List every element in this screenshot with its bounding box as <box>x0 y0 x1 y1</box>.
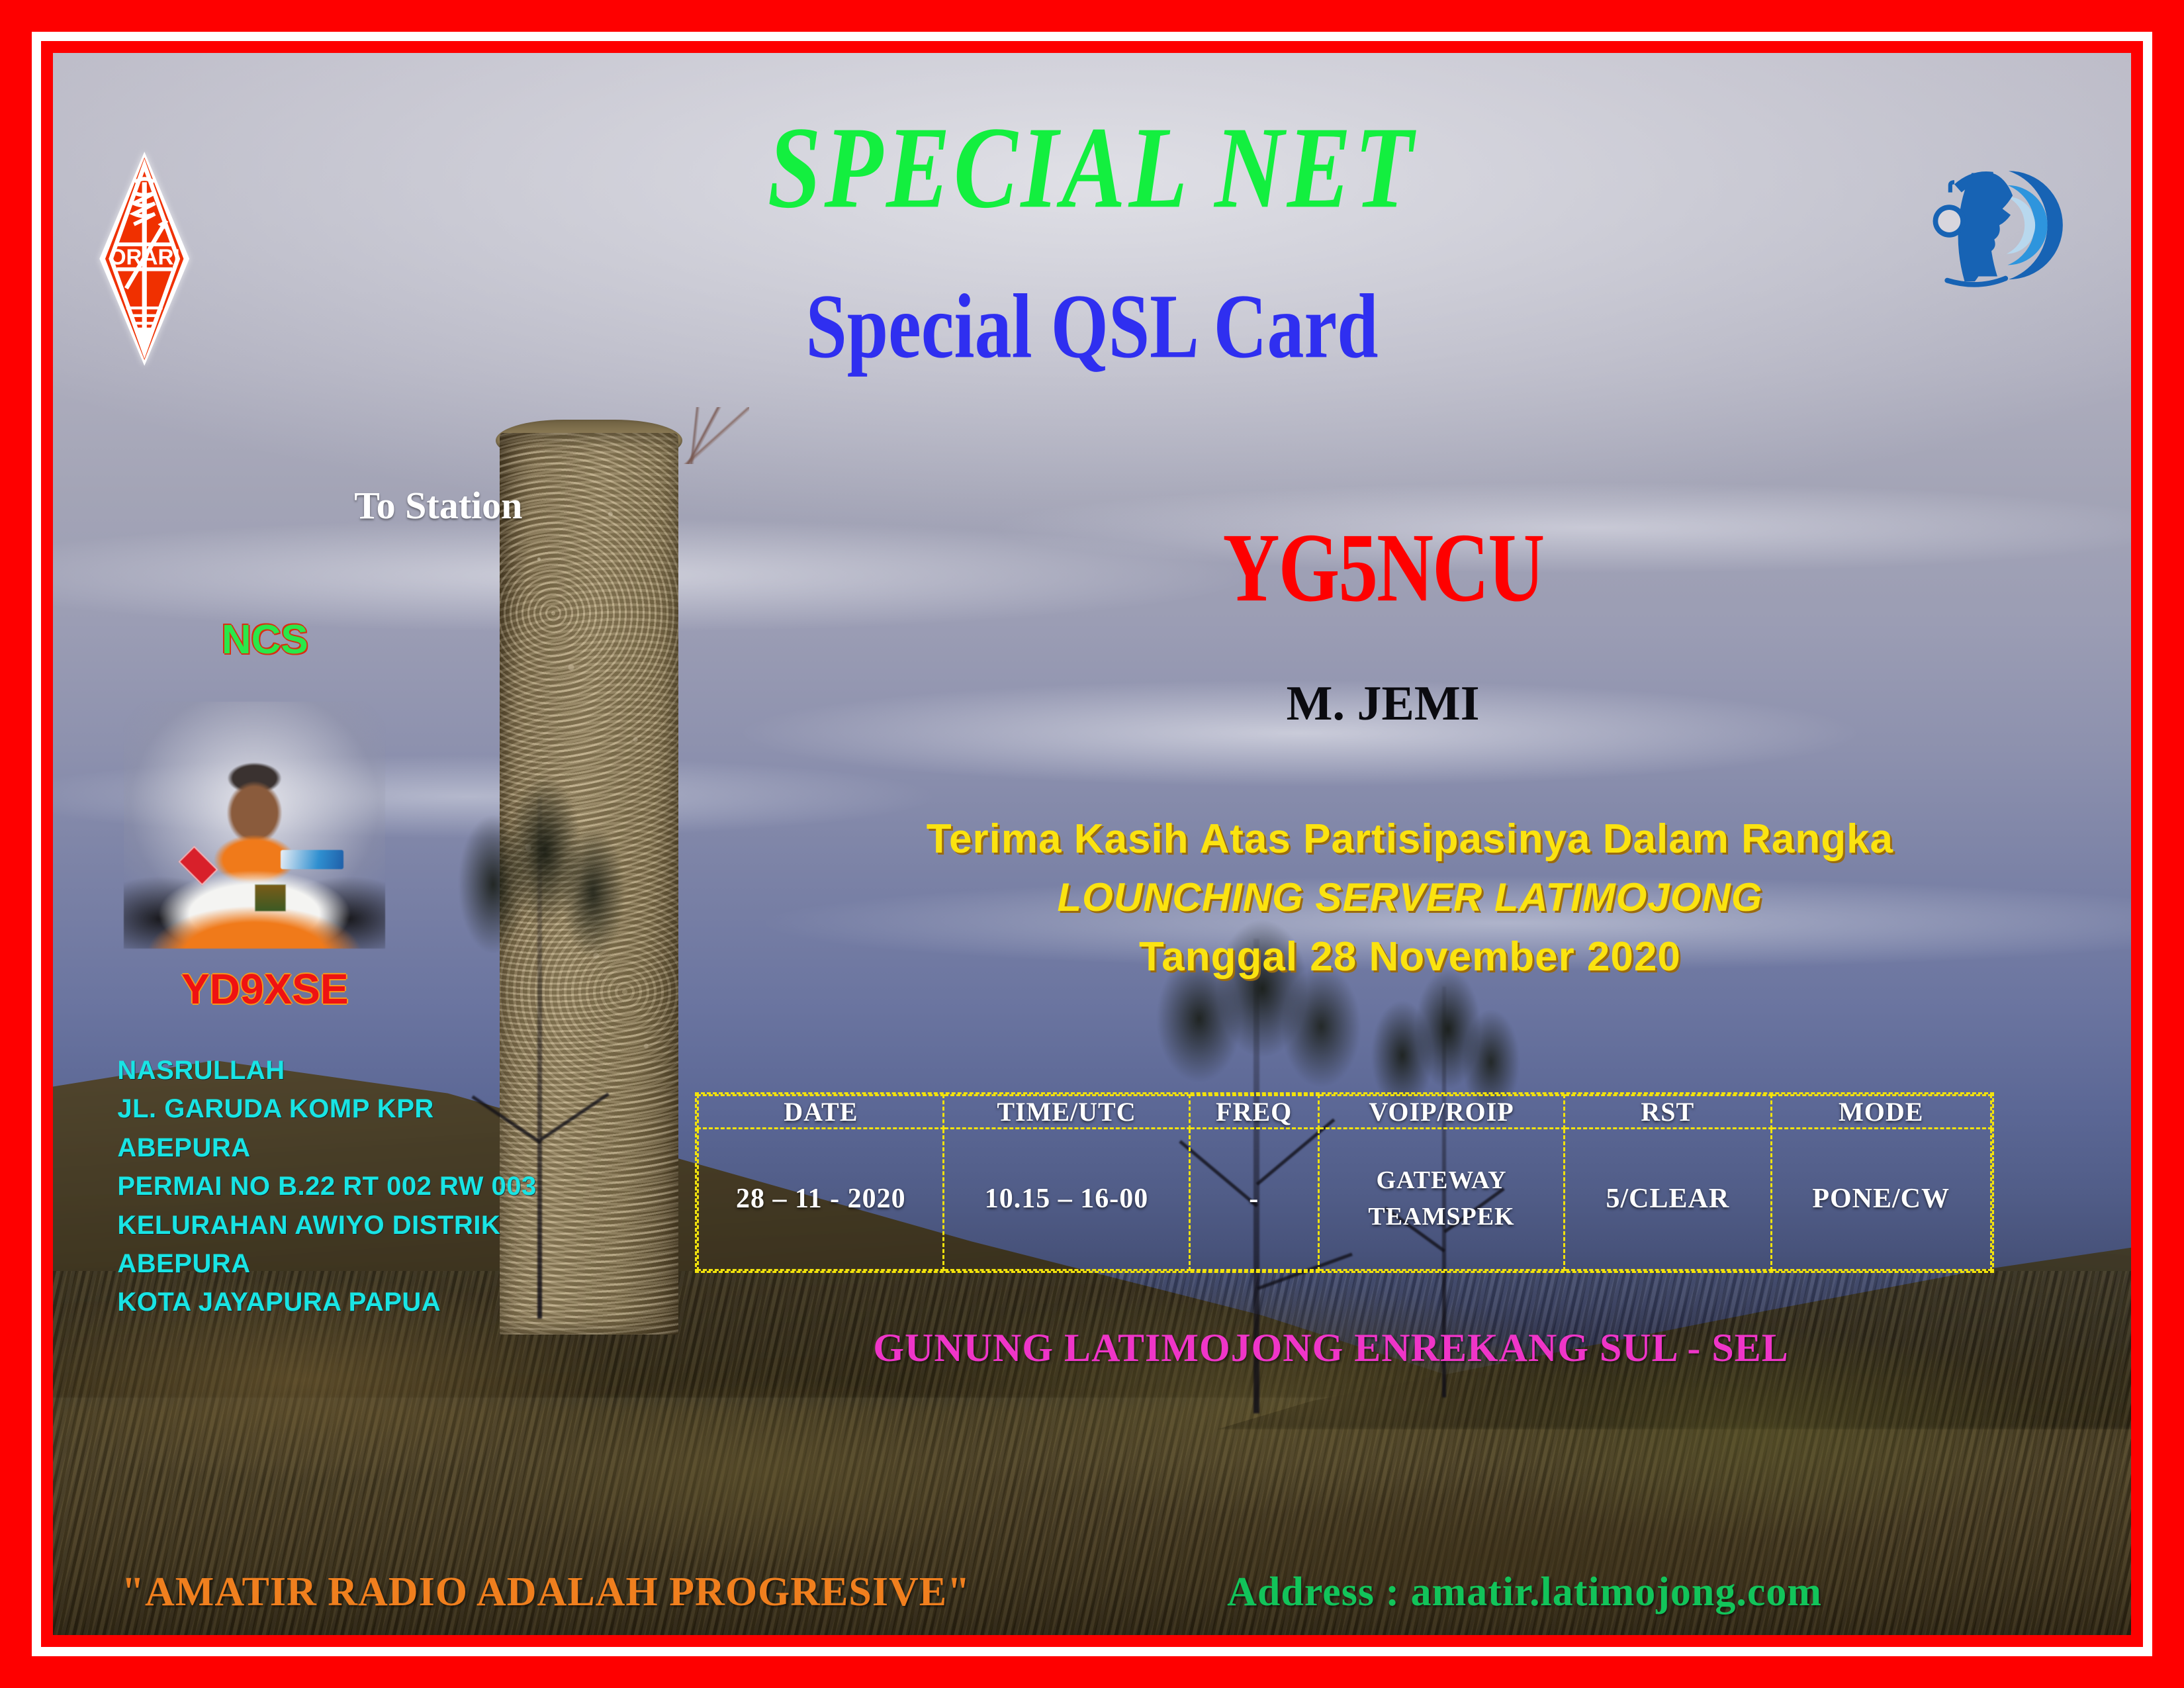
col-header-rst: RST <box>1565 1096 1772 1129</box>
table-row: 28 – 11 - 2020 10.15 – 16-00 - GATEWAY T… <box>698 1129 1991 1270</box>
card-white-border: ORARI <box>32 32 2152 1656</box>
cell-date: 28 – 11 - 2020 <box>698 1129 944 1270</box>
col-header-freq: FREQ <box>1189 1096 1318 1129</box>
card-subtitle: Special QSL Card <box>53 281 2131 373</box>
address-line: ABEPURA <box>117 1244 536 1283</box>
cell-freq: - <box>1189 1129 1318 1270</box>
qsl-card: ORARI <box>0 0 2184 1688</box>
ncs-label: NCS <box>119 616 410 663</box>
to-station-label: To Station <box>354 483 522 528</box>
ncs-operator-photo <box>124 702 386 949</box>
uniform-logo-patch-icon <box>281 850 343 870</box>
cell-voip-line-2: TEAMSPEK <box>1322 1199 1561 1235</box>
ncs-callsign: YD9XSE <box>119 964 410 1013</box>
cell-voip: GATEWAY TEAMSPEK <box>1318 1129 1564 1270</box>
station-callsign: YG5NCU <box>803 518 1963 616</box>
motto-text: "AMATIR RADIO ADALAH PROGRESIVE" <box>122 1569 971 1616</box>
col-header-voip: VOIP/ROIP <box>1318 1096 1564 1129</box>
thanks-line-3: Tanggal 28 November 2020 <box>780 933 2040 980</box>
address-line: NASRULLAH <box>117 1051 536 1090</box>
address-line: ABEPURA <box>117 1129 536 1167</box>
cell-voip-line-1: GATEWAY <box>1322 1162 1561 1199</box>
address-line: KELURAHAN AWIYO DISTRIK <box>117 1206 536 1244</box>
uniform-diamond-patch-icon <box>178 846 218 886</box>
address-line: JL. GARUDA KOMP KPR <box>117 1090 536 1128</box>
thanks-line-1: Terima Kasih Atas Partisipasinya Dalam R… <box>780 816 2040 863</box>
thanks-block: Terima Kasih Atas Partisipasinya Dalam R… <box>780 816 2040 980</box>
operator-name: M. JEMI <box>760 679 2007 728</box>
svg-text:ORARI: ORARI <box>109 245 180 269</box>
col-header-date: DATE <box>698 1096 944 1129</box>
col-header-mode: MODE <box>1771 1096 1991 1129</box>
qso-details-table: DATE TIME/UTC FREQ VOIP/ROIP RST MODE 28… <box>695 1092 1994 1272</box>
address-block: NASRULLAH JL. GARUDA KOMP KPR ABEPURA PE… <box>117 1051 536 1322</box>
address-line: PERMAI NO B.22 RT 002 RW 003 <box>117 1167 536 1205</box>
cell-mode: PONE/CW <box>1771 1129 1991 1270</box>
address-line: KOTA JAYAPURA PAPUA <box>117 1283 536 1321</box>
website-address: Address : amatir.latimojong.com <box>1227 1569 1822 1616</box>
card-title: SPECIAL NET <box>53 110 2131 227</box>
id-card-badge-icon <box>255 884 286 912</box>
col-header-time: TIME/UTC <box>944 1096 1189 1129</box>
location-line: GUNUNG LATIMOJONG ENREKANG SUL - SEL <box>635 1325 2027 1371</box>
cell-time: 10.15 – 16-00 <box>944 1129 1189 1270</box>
card-inner-red-border: ORARI <box>41 41 2143 1647</box>
thanks-line-2: LOUNCHING SERVER LATIMOJONG <box>780 874 2040 920</box>
table-header-row: DATE TIME/UTC FREQ VOIP/ROIP RST MODE <box>698 1096 1991 1129</box>
cell-rst: 5/CLEAR <box>1565 1129 1772 1270</box>
background-photo: ORARI <box>53 53 2131 1635</box>
